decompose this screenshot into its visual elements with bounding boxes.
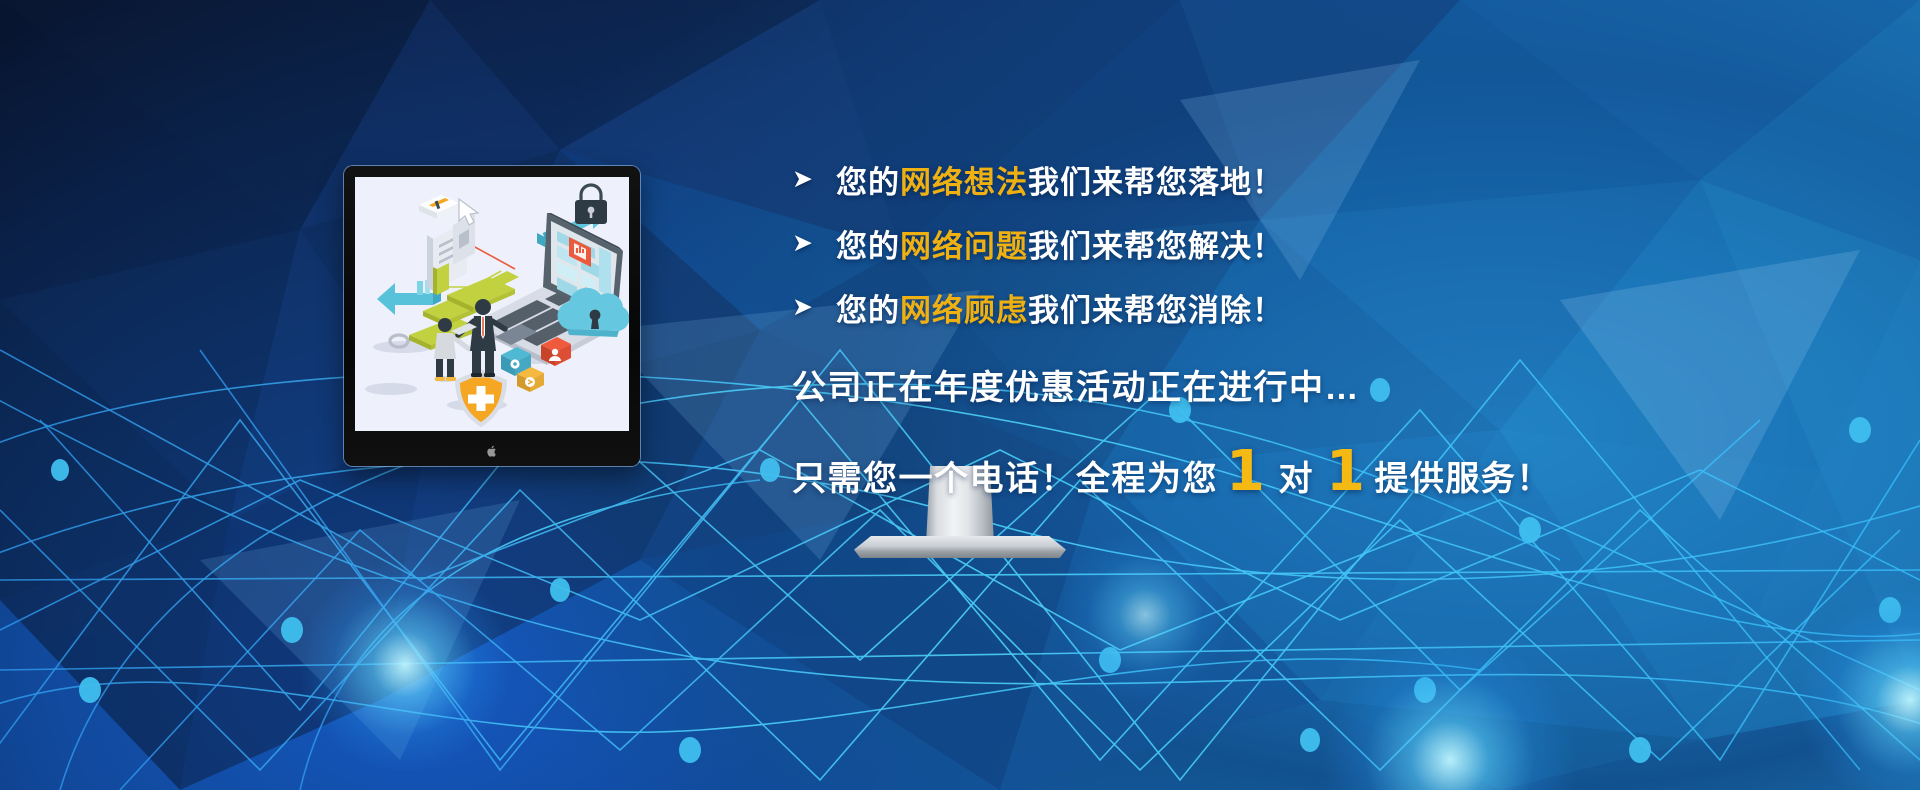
imac-monitor — [344, 166, 640, 466]
bullet-item-3: ➤ 您的网络顾虑我们来帮您消除！ — [792, 278, 1792, 336]
callout-number-first: 1 — [1218, 447, 1274, 497]
callout-between: 对 — [1274, 451, 1318, 500]
callout-number-second: 1 — [1318, 447, 1374, 497]
callout-lead: 只需您一个电话！全程为您 — [792, 451, 1218, 500]
marketing-copy: ➤ 您的网络想法我们来帮您落地！ ➤ 您的网络问题我们来帮您解决！ ➤ 您的网络… — [792, 150, 1792, 500]
monitor-screen — [355, 177, 629, 431]
bullet-prefix-2: 您的 — [836, 229, 900, 264]
promo-banner: ➤ 您的网络想法我们来帮您落地！ ➤ 您的网络问题我们来帮您解决！ ➤ 您的网络… — [0, 0, 1920, 790]
bullet-prefix-3: 您的 — [836, 293, 900, 328]
bullet-prefix-1: 您的 — [836, 165, 900, 200]
bullet-suffix-2: 我们来帮您解决！ — [1028, 229, 1284, 264]
monitor-stand-base — [854, 536, 1066, 558]
bullet-suffix-3: 我们来帮您消除！ — [1028, 293, 1284, 328]
bullet-highlight-3: 网络顾虑 — [900, 293, 1028, 328]
callout-line: 只需您一个电话！全程为您 1 对 1 提供服务！ — [792, 447, 1792, 500]
bullet-text-2: 您的网络问题我们来帮您解决！ — [836, 221, 1284, 266]
promo-line: 公司正在年度优惠活动正在进行中… — [792, 360, 1792, 409]
arrow-right-icon: ➤ — [792, 295, 836, 320]
bullet-text-1: 您的网络想法我们来帮您落地！ — [836, 157, 1284, 202]
bullet-text-3: 您的网络顾虑我们来帮您消除！ — [836, 285, 1284, 330]
bullet-suffix-1: 我们来帮您落地！ — [1028, 165, 1284, 200]
arrow-right-icon: ➤ — [792, 231, 836, 256]
arrow-right-icon: ➤ — [792, 167, 836, 192]
bullet-item-1: ➤ 您的网络想法我们来帮您落地！ — [792, 150, 1792, 208]
screen-illustration — [355, 177, 629, 431]
callout-tail: 提供服务！ — [1374, 451, 1552, 500]
bullet-item-2: ➤ 您的网络问题我们来帮您解决！ — [792, 214, 1792, 272]
bullet-highlight-1: 网络想法 — [900, 165, 1028, 200]
bullet-highlight-2: 网络问题 — [900, 229, 1028, 264]
apple-logo-icon — [487, 445, 498, 458]
